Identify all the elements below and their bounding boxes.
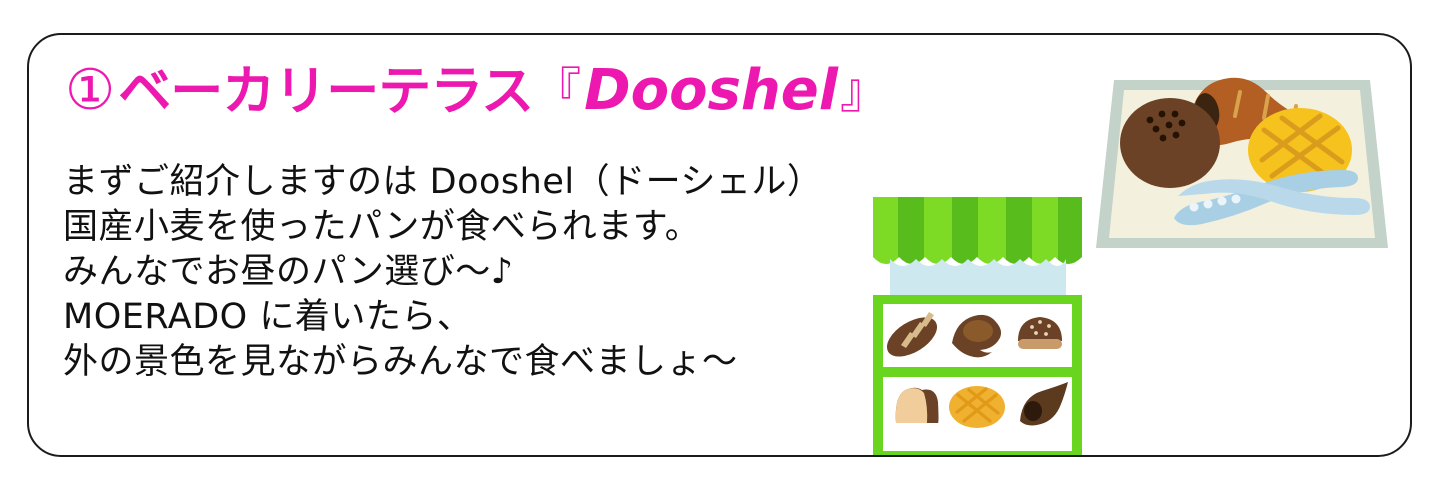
info-card: ① ベーカリーテラス 『 Dooshel 』 まずご紹介しますのは Dooshe… [27,33,1412,457]
description-line: 国産小麦を使ったパンが食べられます。 [63,205,822,250]
awning-icon [873,197,1082,297]
croissant-icon [952,315,1001,357]
title-bracket-close: 』 [840,67,889,115]
description-line: まずご紹介しますのは Dooshel（ドーシェル） [63,160,822,205]
sesame-bun-icon [1018,317,1062,349]
bread-tray-illustration [1092,50,1392,265]
bread-slice-icon [896,388,939,423]
baguette-icon [880,309,943,364]
melon-pan-icon [949,386,1005,428]
title-kana: ベーカリーテラス [118,65,533,118]
description-line: みんなでお昼のパン選び〜♪ [63,250,822,295]
title-brand: Dooshel [584,63,838,119]
bakery-stand-illustration [870,195,1085,457]
title-bracket-open: 『 [533,67,582,115]
title-number: ① [65,63,116,119]
description-text: まずご紹介しますのは Dooshel（ドーシェル） 国産小麦を使ったパンが食べら… [63,160,822,385]
shelf-bread-bottom [896,382,1068,428]
description-line: MOERADO に着いたら、 [63,295,822,340]
description-line: 外の景色を見ながらみんなで食べましょ〜 [63,340,822,385]
sesame-bun-icon [1120,98,1220,188]
choco-cornet-icon [1020,382,1068,425]
shelf-bread-top [880,309,1062,364]
page-title: ① ベーカリーテラス 『 Dooshel 』 [65,63,889,119]
